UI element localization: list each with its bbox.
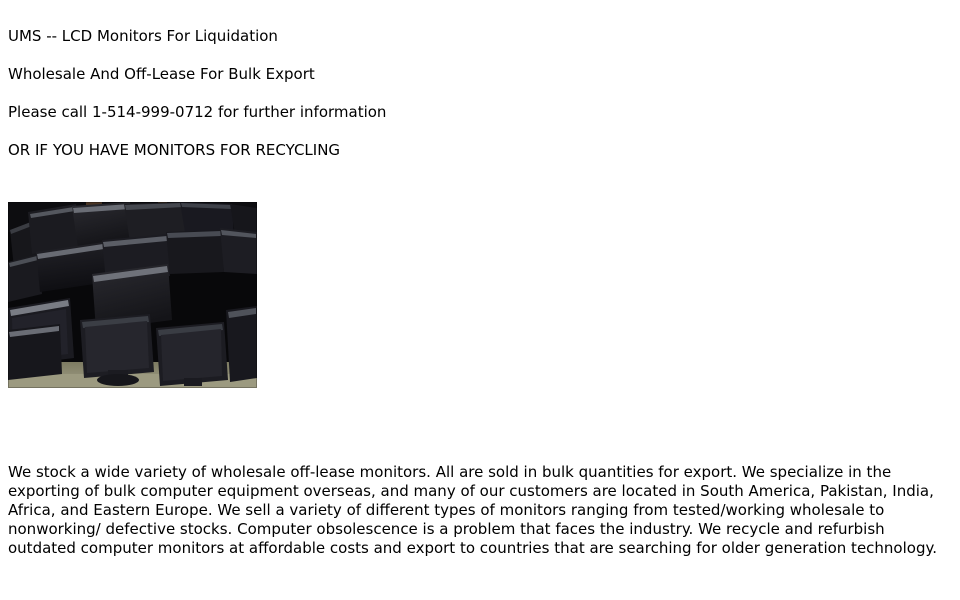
headline-subtitle: Wholesale And Off-Lease For Bulk Export bbox=[8, 65, 952, 84]
headline-title: UMS -- LCD Monitors For Liquidation bbox=[8, 27, 952, 46]
photo-container bbox=[8, 202, 257, 388]
monitors-photo-graphic bbox=[8, 202, 257, 388]
headline-recycling: OR IF YOU HAVE MONITORS FOR RECYCLING bbox=[8, 141, 952, 160]
page-root: UMS -- LCD Monitors For Liquidation Whol… bbox=[0, 0, 960, 566]
lcd-monitors-warehouse-photo bbox=[8, 202, 257, 388]
body-paragraph: We stock a wide variety of wholesale off… bbox=[8, 463, 952, 558]
headline-phone: Please call 1-514-999-0712 for further i… bbox=[8, 103, 952, 122]
